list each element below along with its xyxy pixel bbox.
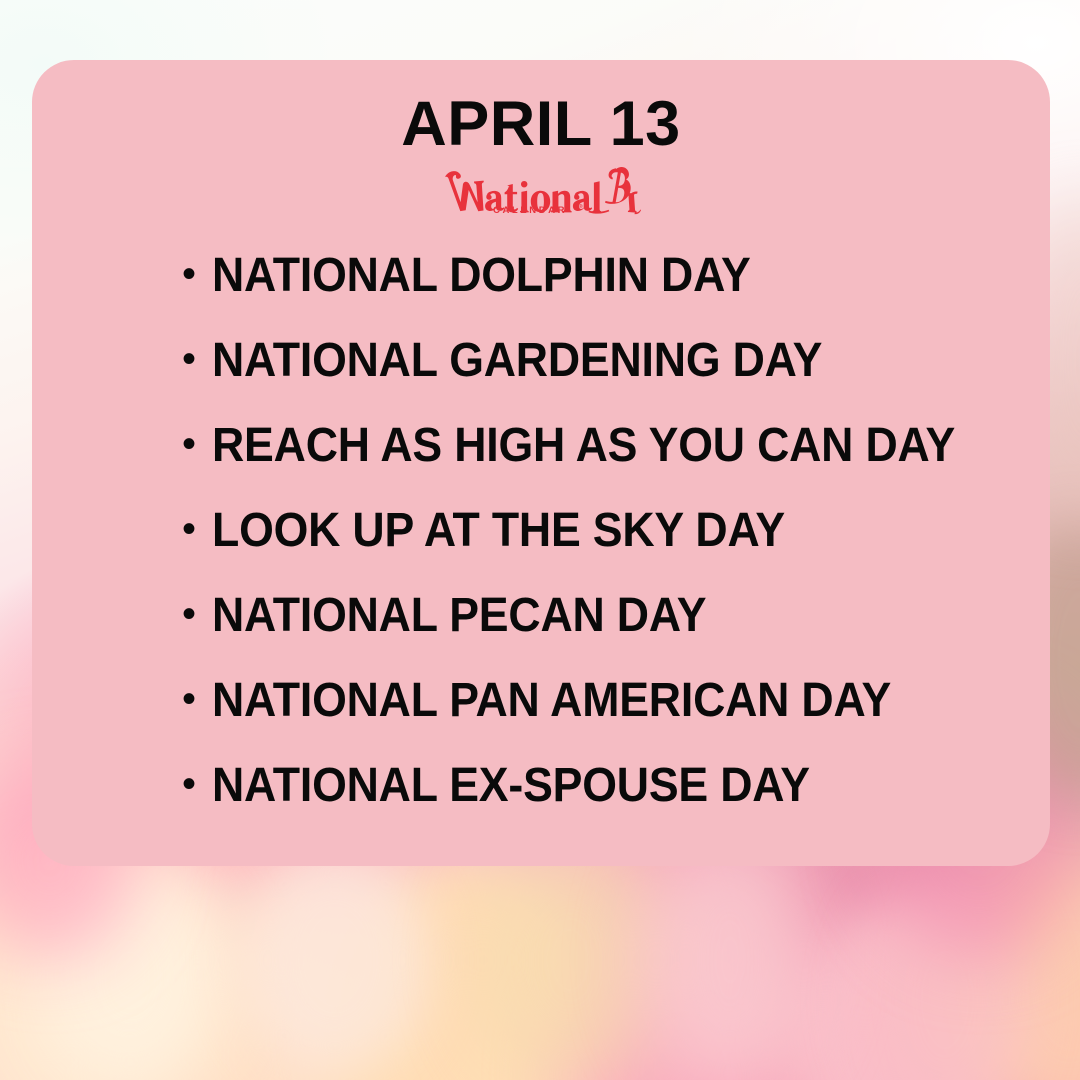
observance-label: LOOK UP AT THE SKY DAY — [212, 507, 954, 555]
observance-label: NATIONAL PAN AMERICAN DAY — [212, 677, 954, 725]
content-card: APRIL 13 — [32, 60, 1050, 866]
bullet-icon: • — [182, 339, 212, 379]
list-item[interactable]: • LOOK UP AT THE SKY DAY — [182, 507, 1010, 592]
list-item[interactable]: • NATIONAL PECAN DAY — [182, 592, 1010, 677]
bullet-icon: • — [182, 764, 212, 804]
bullet-icon: • — [182, 254, 212, 294]
bullet-icon: • — [182, 679, 212, 719]
observance-label: NATIONAL EX-SPOUSE DAY — [212, 762, 954, 810]
observance-label: NATIONAL GARDENING DAY — [212, 337, 954, 385]
national-day-calendar-logo: CALENDAR ® — [32, 163, 1050, 215]
observance-label: NATIONAL DOLPHIN DAY — [212, 252, 954, 300]
observance-label: NATIONAL PECAN DAY — [212, 592, 954, 640]
observance-label: REACH AS HIGH AS YOU CAN DAY — [212, 422, 955, 470]
bullet-icon: • — [182, 509, 212, 549]
svg-text:CALENDAR: CALENDAR — [493, 205, 567, 215]
observance-list: • NATIONAL DOLPHIN DAY • NATIONAL GARDEN… — [182, 252, 1010, 847]
page-title: APRIL 13 — [32, 93, 1050, 156]
list-item[interactable]: • REACH AS HIGH AS YOU CAN DAY — [182, 422, 1010, 507]
bullet-icon: • — [182, 424, 212, 464]
list-item[interactable]: • NATIONAL GARDENING DAY — [182, 337, 1010, 422]
list-item[interactable]: • NATIONAL EX-SPOUSE DAY — [182, 762, 1010, 847]
svg-text:®: ® — [579, 203, 583, 210]
list-item[interactable]: • NATIONAL DOLPHIN DAY — [182, 252, 1010, 337]
poster: APRIL 13 — [0, 0, 1080, 1080]
bullet-icon: • — [182, 594, 212, 634]
list-item[interactable]: • NATIONAL PAN AMERICAN DAY — [182, 677, 1010, 762]
